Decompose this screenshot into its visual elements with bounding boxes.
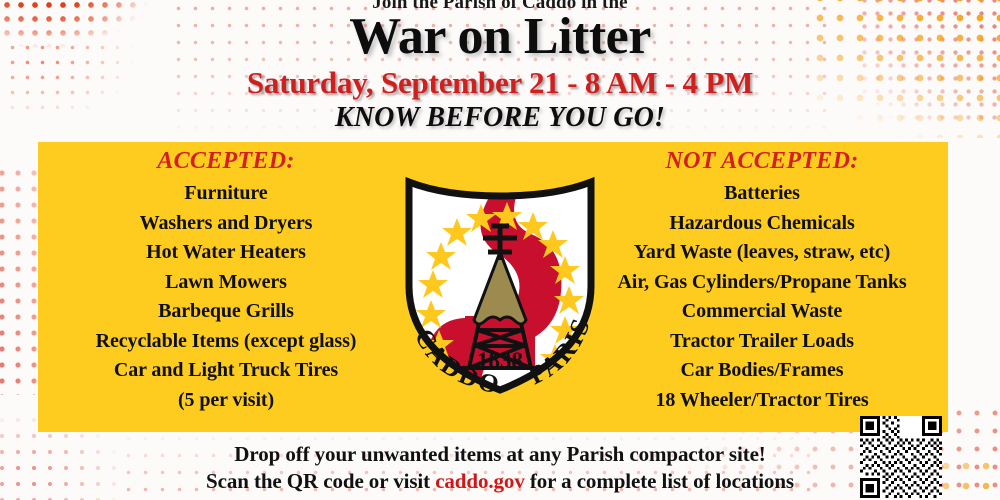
page-title: War on Litter [0, 10, 1000, 64]
list-item: Furniture [46, 179, 406, 209]
caddo-gov-link[interactable]: caddo.gov [435, 469, 525, 493]
list-item: Lawn Mowers [46, 268, 406, 298]
war-on-litter-poster: Join the Parish of Caddo in the War on L… [0, 0, 1000, 500]
footer-line-2-before: Scan the QR code or visit [206, 469, 435, 493]
list-item: 18 Wheeler/Tractor Tires [582, 386, 942, 416]
footer-line-2: Scan the QR code or visit caddo.gov for … [0, 468, 1000, 495]
accepted-heading: ACCEPTED: [46, 146, 406, 176]
footer-line-1: Drop off your unwanted items at any Pari… [0, 441, 1000, 468]
list-item: Car Bodies/Frames [582, 356, 942, 386]
list-item: Recyclable Items (except glass) [46, 327, 406, 357]
not-accepted-heading: NOT ACCEPTED: [582, 146, 942, 176]
footer-block: Drop off your unwanted items at any Pari… [0, 441, 1000, 495]
list-item: Air, Gas Cylinders/Propane Tanks [582, 268, 942, 298]
list-item: Commercial Waste [582, 297, 942, 327]
list-item: Barbeque Grills [46, 297, 406, 327]
list-item: Hazardous Chemicals [582, 209, 942, 239]
list-item: (5 per visit) [46, 386, 406, 416]
list-item: Washers and Dryers [46, 209, 406, 239]
footer-line-2-after: for a complete list of locations [525, 469, 794, 493]
list-item: Car and Light Truck Tires [46, 356, 406, 386]
event-date-time: Saturday, September 21 - 8 AM - 4 PM [0, 66, 1000, 100]
accepted-column: ACCEPTED: Furniture Washers and Dryers H… [46, 146, 406, 415]
qr-code[interactable] [860, 416, 942, 498]
list-item: Yard Waste (leaves, straw, etc) [582, 238, 942, 268]
not-accepted-column: NOT ACCEPTED: Batteries Hazardous Chemic… [582, 146, 942, 415]
caddo-parish-seal: 1838 CADDO PARISH [395, 168, 605, 400]
headline-block: Join the Parish of Caddo in the War on L… [0, 0, 1000, 133]
subtitle-text: KNOW BEFORE YOU GO! [0, 102, 1000, 133]
list-item: Hot Water Heaters [46, 238, 406, 268]
list-item: Tractor Trailer Loads [582, 327, 942, 357]
list-item: Batteries [582, 179, 942, 209]
